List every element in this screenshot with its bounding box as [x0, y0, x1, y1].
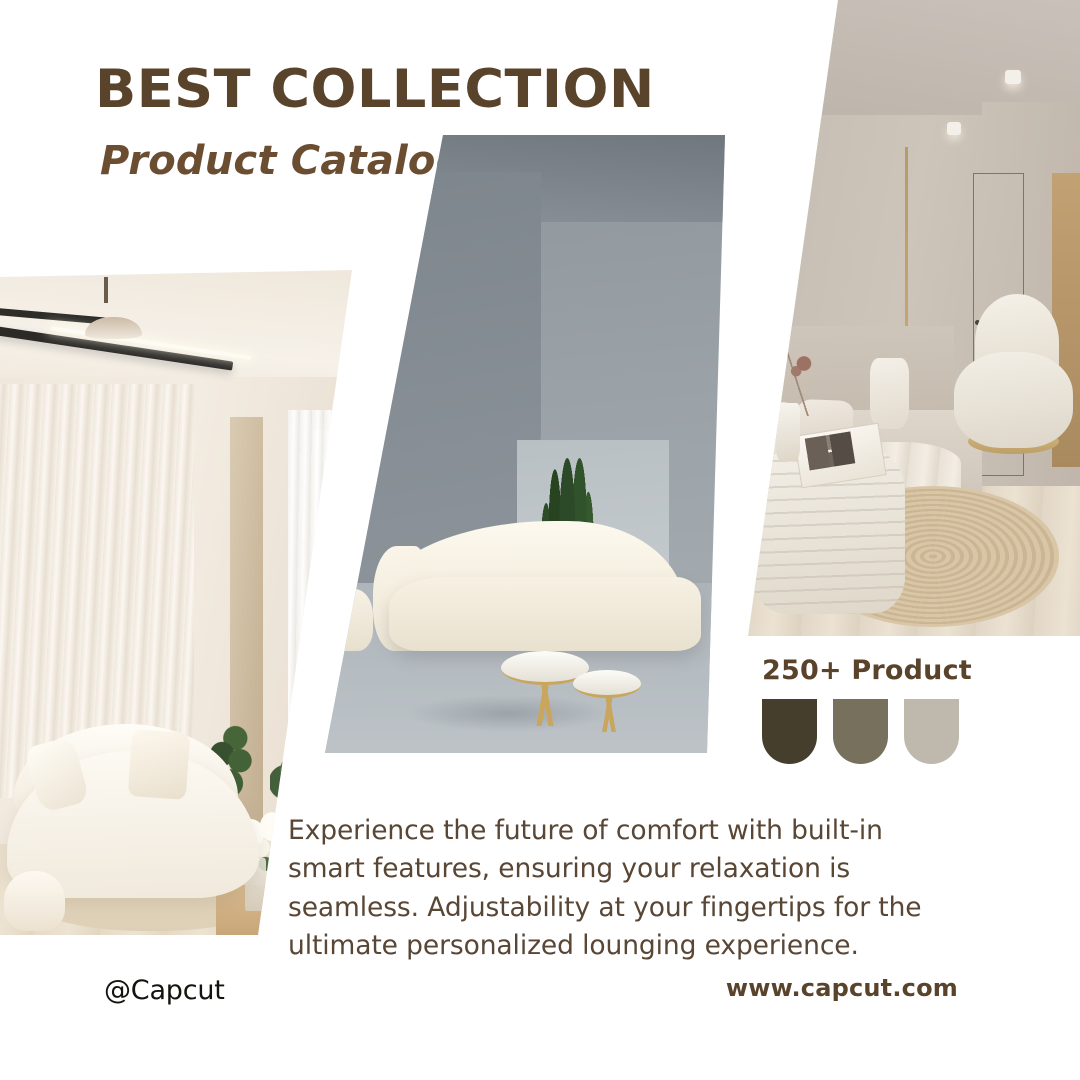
ottoman-stool	[4, 871, 65, 931]
gallery-image-studio-sofa	[325, 135, 725, 757]
color-swatch-list	[762, 699, 992, 764]
page-title: BEST COLLECTION	[95, 62, 655, 118]
ceiling-spotlight-2	[947, 122, 961, 135]
round-pouf	[329, 589, 373, 651]
sofa-seat	[389, 577, 701, 652]
social-handle: @Capcut	[104, 975, 225, 1006]
ceramic-vase	[776, 403, 801, 461]
floor-shadow	[405, 695, 613, 732]
olive-plant	[270, 724, 328, 818]
product-highlight: 250+ Product	[762, 655, 992, 764]
page-subtitle: Product Catalog	[100, 138, 464, 184]
gallery-image-bedroom	[730, 0, 1080, 640]
studio-sofa-scene	[325, 135, 725, 757]
website-url[interactable]: www.capcut.com	[726, 974, 958, 1002]
swatch-light-beige[interactable]	[904, 699, 959, 764]
boucle-armchair-seat	[954, 352, 1073, 448]
bedroom-scene	[730, 0, 1080, 640]
coffee-table-small-top	[573, 670, 641, 698]
swatch-taupe[interactable]	[833, 699, 888, 764]
description-text: Experience the future of comfort with bu…	[288, 812, 960, 966]
cushion-right	[127, 729, 189, 800]
product-count-label: 250+ Product	[762, 655, 992, 686]
ceiling-spotlight-1	[1005, 70, 1021, 84]
small-stool	[870, 358, 909, 428]
swatch-dark-olive[interactable]	[762, 699, 817, 764]
poster-canvas: BEST COLLECTION Product Catalog	[0, 0, 1080, 1080]
pendant-rod	[104, 277, 108, 303]
